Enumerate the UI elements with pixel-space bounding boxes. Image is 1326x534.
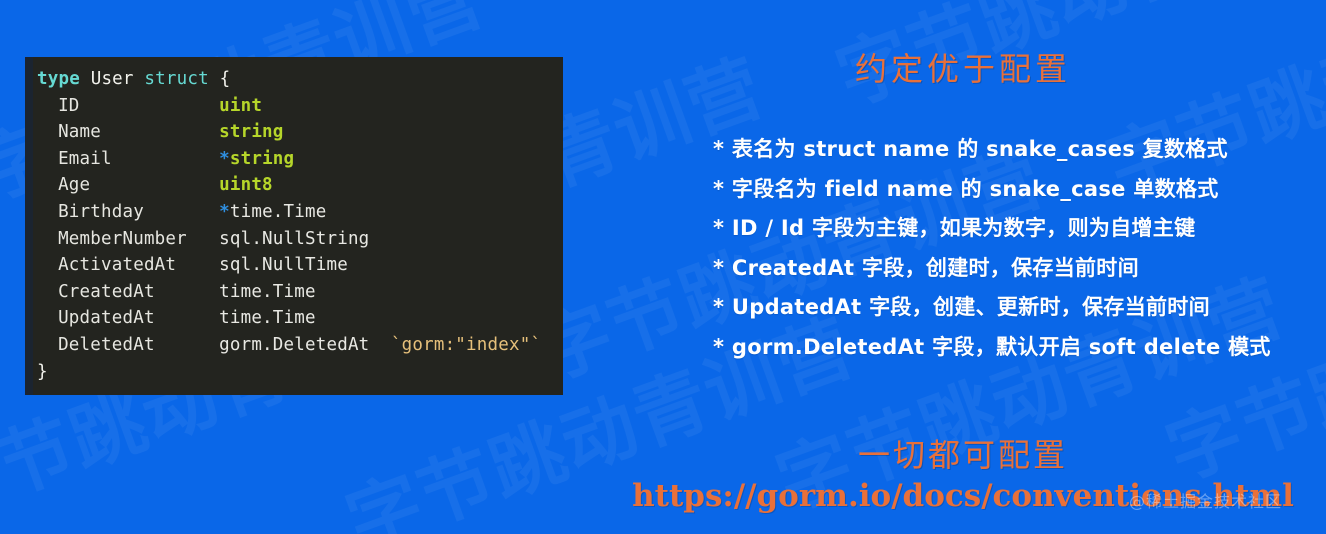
corner-watermark: @稀土掘金技术社区 (1129, 488, 1282, 512)
convention-bullet-item: * gorm.DeletedAt 字段，默认开启 soft delete 模式 (713, 328, 1313, 368)
struct-field-type: string (230, 149, 294, 169)
struct-field-name: CreatedAt (58, 282, 219, 302)
struct-field-type: `gorm:"index"` (369, 335, 541, 355)
code-line: MemberNumber sql.NullString (37, 226, 563, 253)
code-token: { (220, 69, 231, 89)
code-token (80, 69, 91, 89)
struct-field-name: Birthday (58, 202, 219, 222)
page-title: 约定优于配置 (600, 44, 1326, 90)
convention-bullet-item: * ID / Id 字段为主键，如果为数字，则为自增主键 (713, 209, 1313, 249)
struct-field-name: ActivatedAt (58, 255, 219, 275)
convention-bullet-list: * 表名为 struct name 的 snake_cases 复数格式* 字段… (713, 130, 1313, 368)
code-line: Email *string (37, 146, 563, 173)
struct-field-name: Age (58, 175, 219, 195)
code-token: type (37, 69, 80, 89)
code-snippet-text: type User struct {ID uintName stringEmai… (25, 57, 563, 385)
struct-field-name: Name (58, 122, 219, 142)
code-line: Name string (37, 119, 563, 146)
code-token (209, 69, 220, 89)
code-token: } (37, 362, 48, 382)
code-line: UpdatedAt time.Time (37, 305, 563, 332)
struct-field-type: uint8 (219, 175, 273, 195)
struct-field-name: Email (58, 149, 219, 169)
struct-field-name: MemberNumber (58, 229, 219, 249)
code-line: ID uint (37, 93, 563, 120)
struct-field-type: sql.NullTime (219, 255, 348, 275)
code-line: CreatedAt time.Time (37, 279, 563, 306)
struct-field-type: string (219, 122, 283, 142)
struct-field-type: * (219, 149, 230, 169)
struct-field-name: DeletedAt (58, 335, 219, 355)
content-column: 约定优于配置 * 表名为 struct name 的 snake_cases 复… (600, 0, 1326, 534)
code-line: DeletedAt gorm.DeletedAt `gorm:"index"` (37, 332, 563, 359)
code-snippet-panel: type User struct {ID uintName stringEmai… (25, 57, 563, 395)
struct-field-type: time.Time (230, 202, 327, 222)
code-token (134, 69, 145, 89)
struct-field-type: uint (219, 96, 262, 116)
struct-field-type: gorm.DeletedAt (219, 335, 369, 355)
convention-bullet-item: * CreatedAt 字段，创建时，保存当前时间 (713, 249, 1313, 289)
code-line: Birthday *time.Time (37, 199, 563, 226)
struct-field-type: * (219, 202, 230, 222)
struct-field-name: UpdatedAt (58, 308, 219, 328)
code-line: } (37, 359, 563, 386)
convention-bullet-item: * 表名为 struct name 的 snake_cases 复数格式 (713, 130, 1313, 170)
code-token: User (91, 69, 134, 89)
code-line: Age uint8 (37, 172, 563, 199)
struct-field-name: ID (58, 96, 219, 116)
struct-field-type: sql.NullString (219, 229, 369, 249)
struct-field-type: time.Time (219, 282, 316, 302)
struct-field-type: time.Time (219, 308, 316, 328)
footer-heading: 一切都可配置 (600, 430, 1326, 476)
code-line: ActivatedAt sql.NullTime (37, 252, 563, 279)
convention-bullet-item: * UpdatedAt 字段，创建、更新时，保存当前时间 (713, 288, 1313, 328)
code-line: type User struct { (37, 66, 563, 93)
code-token: struct (144, 69, 208, 89)
convention-bullet-item: * 字段名为 field name 的 snake_case 单数格式 (713, 170, 1313, 210)
